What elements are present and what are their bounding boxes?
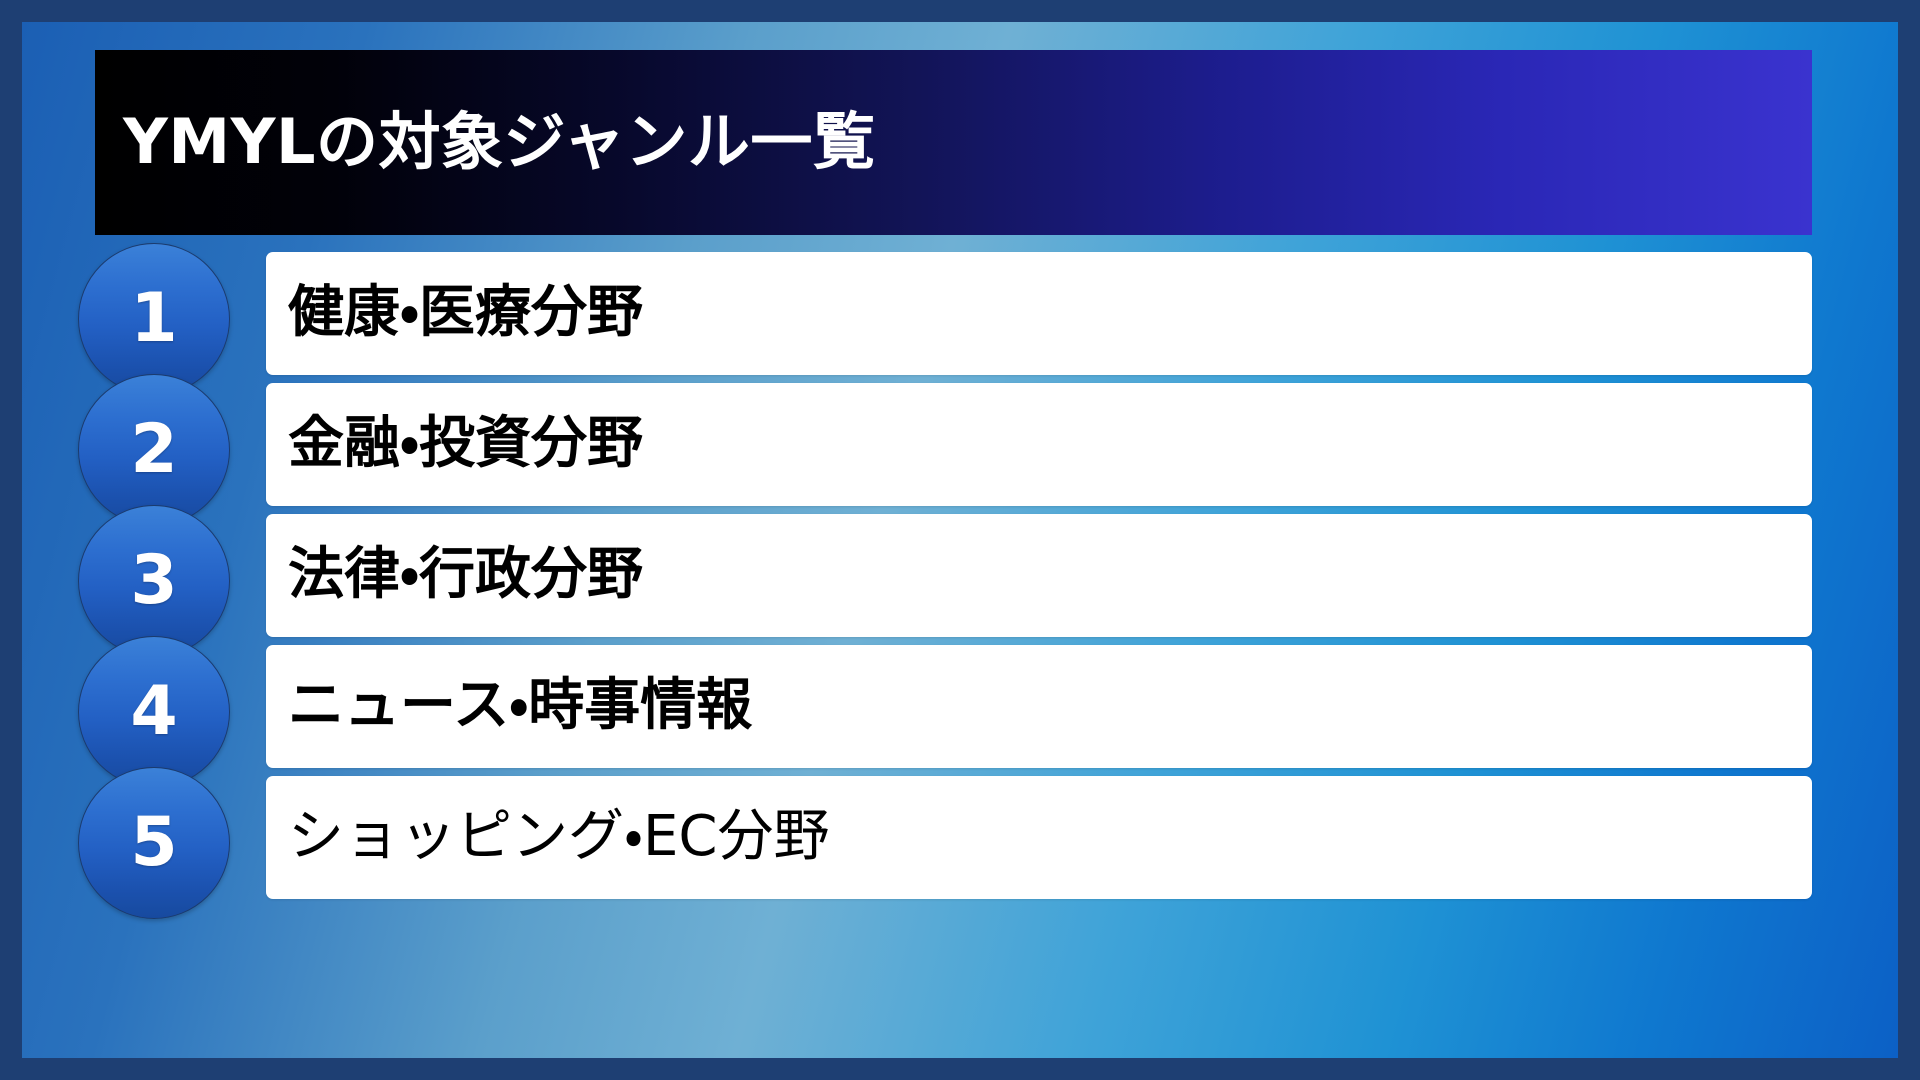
genre-card-label: 金融・投資分野 (288, 412, 643, 476)
number-badge-3: 3 (78, 505, 230, 657)
genre-card-label: 法律・行政分野 (288, 543, 643, 607)
number-badge-label: 3 (130, 547, 177, 615)
list-item[interactable]: 3 法律・行政分野 (22, 514, 1898, 645)
slide-canvas: YMYLの対象ジャンル一覧 1 健康・医療分野 2 金融・投資分野 (22, 22, 1898, 1058)
number-badge-4: 4 (78, 636, 230, 788)
genre-card-2[interactable]: 金融・投資分野 (266, 383, 1812, 506)
list-item[interactable]: 1 健康・医療分野 (22, 252, 1898, 383)
list-item[interactable]: 4 ニュース・時事情報 (22, 645, 1898, 776)
list-item[interactable]: 5 ショッピング・EC分野 (22, 776, 1898, 907)
number-badge-2: 2 (78, 374, 230, 526)
number-badge-1: 1 (78, 243, 230, 395)
genre-card-5[interactable]: ショッピング・EC分野 (266, 776, 1812, 899)
list-item[interactable]: 2 金融・投資分野 (22, 383, 1898, 514)
page-title: YMYLの対象ジャンル一覧 (123, 108, 875, 176)
genre-card-label: ショッピング・EC分野 (288, 805, 830, 869)
number-badge-label: 4 (130, 678, 177, 746)
genre-card-3[interactable]: 法律・行政分野 (266, 514, 1812, 637)
genre-card-4[interactable]: ニュース・時事情報 (266, 645, 1812, 768)
number-badge-5: 5 (78, 767, 230, 919)
genre-card-label: 健康・医療分野 (288, 281, 643, 345)
number-badge-label: 1 (130, 285, 177, 353)
genre-card-1[interactable]: 健康・医療分野 (266, 252, 1812, 375)
title-banner: YMYLの対象ジャンル一覧 (95, 50, 1812, 235)
number-badge-label: 5 (130, 809, 177, 877)
genre-card-label: ニュース・時事情報 (288, 674, 752, 738)
number-badge-label: 2 (130, 416, 177, 484)
genre-list: 1 健康・医療分野 2 金融・投資分野 3 法律・行政分野 (22, 252, 1898, 907)
slide-root: YMYLの対象ジャンル一覧 1 健康・医療分野 2 金融・投資分野 (0, 0, 1920, 1080)
